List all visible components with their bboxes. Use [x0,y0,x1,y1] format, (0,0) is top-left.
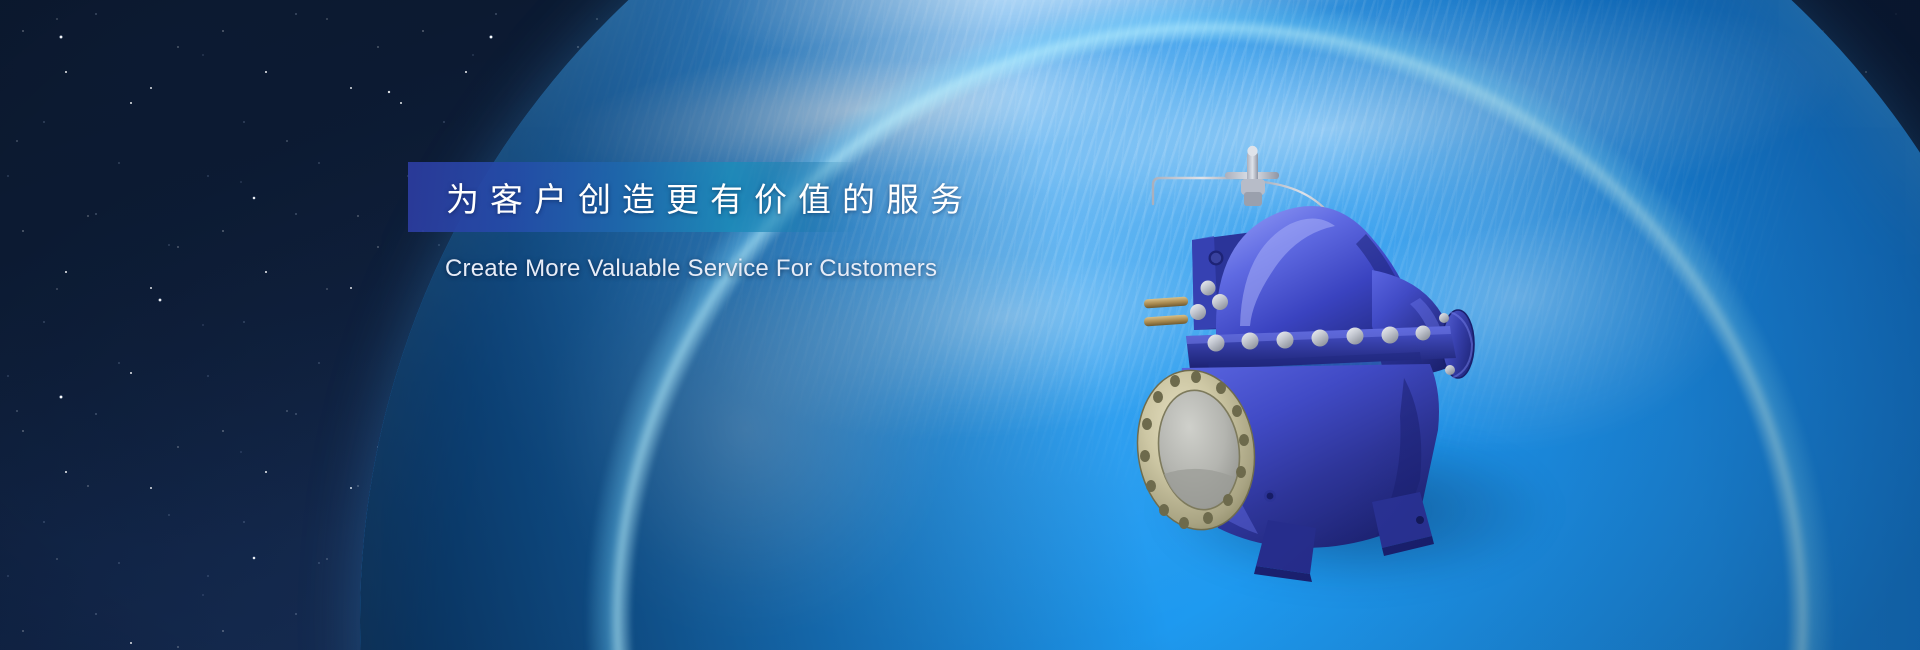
page-subtitle: Create More Valuable Service For Custome… [445,255,937,283]
page-title: 为客户创造更有价值的服务 [446,164,974,230]
hero-banner: 为客户创造更有价值的服务 Create More Valuable Servic… [0,0,1920,650]
space-background [0,0,1920,650]
